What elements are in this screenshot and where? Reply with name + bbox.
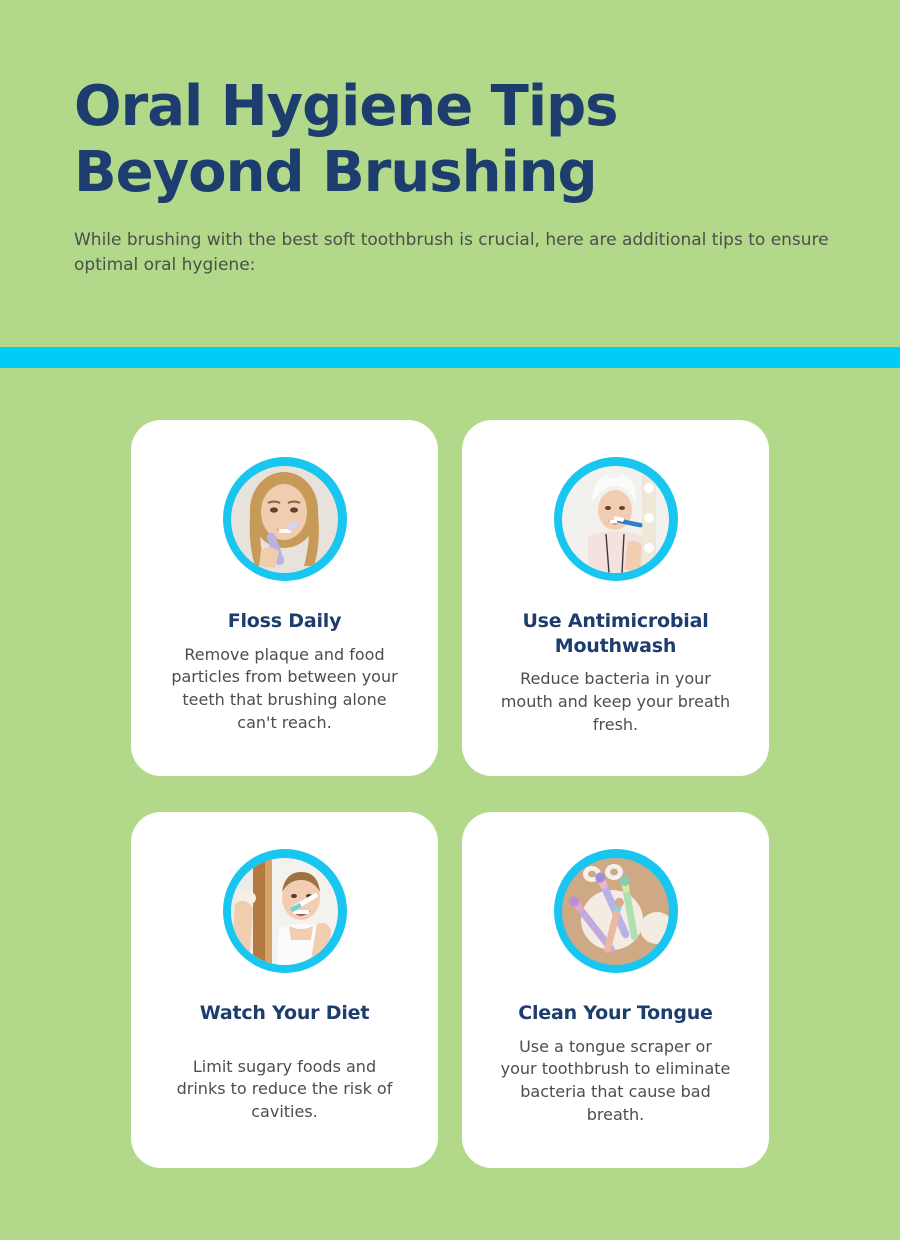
photo-ring [554, 457, 678, 581]
man-brushing-mirror-photo [231, 858, 338, 965]
tip-card-watch-your-diet[interactable]: Watch Your Diet Limit sugary foods and d… [131, 812, 438, 1168]
card-title: Floss Daily [228, 609, 342, 634]
woman-towel-hair-brushing-photo [562, 466, 669, 573]
card-title: Watch Your Diet [200, 1001, 369, 1026]
card-body: Use a tongue scraper or your toothbrush … [500, 1036, 732, 1127]
photo-ring [554, 849, 678, 973]
tip-card-floss-daily[interactable]: Floss Daily Remove plaque and food parti… [131, 420, 438, 776]
tips-card-grid: Floss Daily Remove plaque and food parti… [131, 420, 769, 1168]
cyan-divider-bar [0, 347, 900, 368]
tip-card-use-antimicrobial-mouthwash[interactable]: Use Antimicrobial Mouthwash Reduce bacte… [462, 420, 769, 776]
header: Oral Hygiene Tips Beyond Brushing While … [0, 0, 900, 277]
photo-ring [223, 457, 347, 581]
page-subtitle: While brushing with the best soft toothb… [74, 228, 830, 277]
card-body: Limit sugary foods and drinks to reduce … [169, 1056, 401, 1124]
card-title: Use Antimicrobial Mouthwash [480, 609, 751, 658]
photo-ring [223, 849, 347, 973]
card-body: Reduce bacteria in your mouth and keep y… [500, 668, 732, 736]
woman-brushing-teeth-photo [231, 466, 338, 573]
card-body: Remove plaque and food particles from be… [169, 644, 401, 735]
page-title: Oral Hygiene Tips Beyond Brushing [74, 74, 674, 206]
tongue-scrapers-on-plate-photo [562, 858, 669, 965]
card-title: Clean Your Tongue [518, 1001, 713, 1026]
tip-card-clean-your-tongue[interactable]: Clean Your Tongue Use a tongue scraper o… [462, 812, 769, 1168]
